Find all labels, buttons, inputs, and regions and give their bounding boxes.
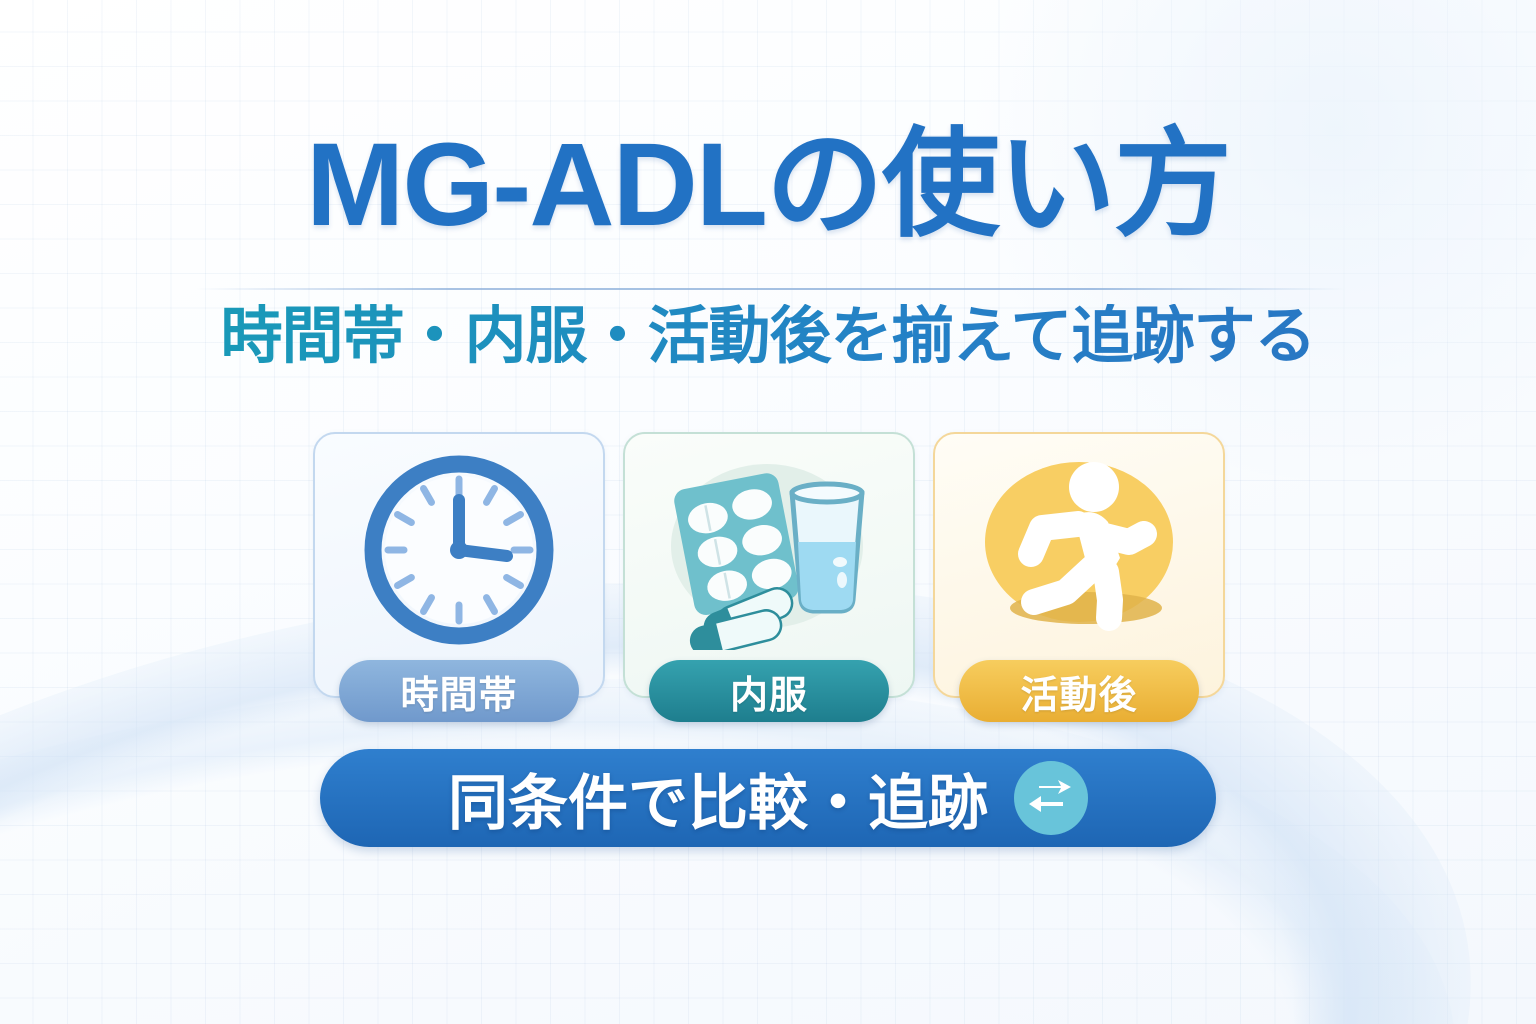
summary-banner-text: 同条件で比較・追跡: [448, 755, 988, 842]
card-art-medication: [625, 444, 913, 656]
card-art-activity: [935, 444, 1223, 656]
exchange-arrows-glyph: [1027, 776, 1075, 820]
category-card-activity[interactable]: 活動後: [933, 432, 1225, 698]
card-art-time: [315, 444, 603, 656]
clock-icon: [364, 455, 554, 645]
medication-icon: [659, 450, 879, 650]
running-person-icon: [974, 450, 1184, 650]
card-label-time: 時間帯: [339, 660, 579, 722]
summary-banner[interactable]: 同条件で比較・追跡: [320, 749, 1216, 847]
category-card-group: 時間帯: [313, 432, 1225, 694]
title-divider: [196, 288, 1346, 290]
exchange-arrows-icon: [1014, 761, 1088, 835]
category-card-medication[interactable]: 内服: [623, 432, 915, 698]
infographic-canvas: MG-ADLの使い方 時間帯・内服・活動後を揃えて追跡する: [0, 0, 1536, 1024]
card-label-medication: 内服: [649, 660, 889, 722]
page-title: MG-ADLの使い方: [0, 126, 1536, 244]
category-card-time[interactable]: 時間帯: [313, 432, 605, 698]
page-subtitle: 時間帯・内服・活動後を揃えて追跡する: [0, 304, 1536, 369]
card-label-activity: 活動後: [959, 660, 1199, 722]
